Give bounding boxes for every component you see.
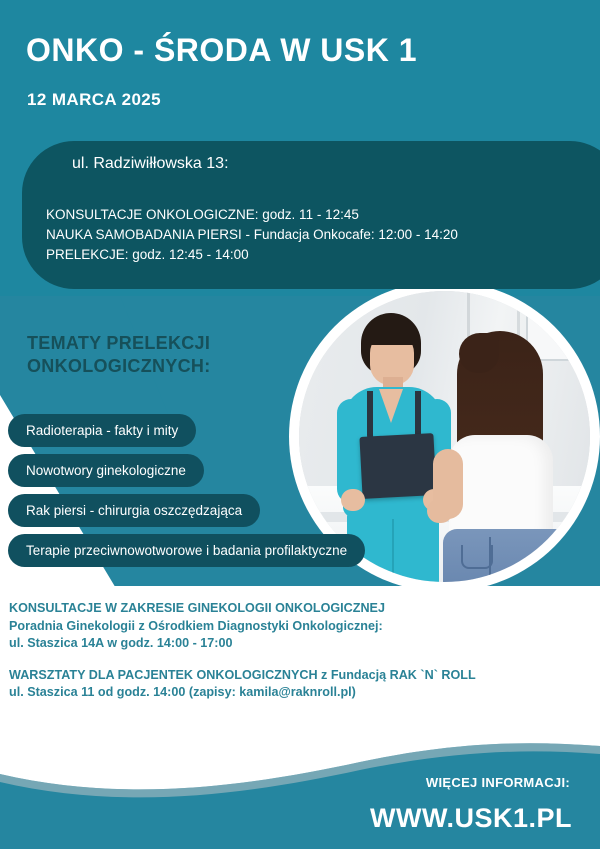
topic-pill: Radioterapia - fakty i mity	[8, 414, 196, 447]
info-line: Poradnia Ginekologii z Ośrodkiem Diagnos…	[9, 618, 594, 636]
info-line: ul. Staszica 14A w godz. 14:00 - 17:00	[9, 635, 594, 653]
schedule-item: KONSULTACJE ONKOLOGICZNE: godz. 11 - 12:…	[46, 205, 458, 225]
patient-jeans-pocket	[461, 545, 493, 569]
more-info-label: WIĘCEJ INFORMACJI:	[426, 775, 570, 790]
event-date: 12 MARCA 2025	[27, 90, 161, 110]
patient-hand	[427, 499, 453, 523]
info-line: KONSULTACJE W ZAKRESIE GINEKOLOGII ONKOL…	[9, 600, 594, 618]
doctor-pants-seam	[392, 519, 394, 582]
page-title: ONKO - ŚRODA W USK 1	[26, 32, 417, 69]
topic-pill: Nowotwory ginekologiczne	[8, 454, 204, 487]
topics-heading-line1: TEMATY PRELEKCJI	[27, 332, 211, 355]
poster: ONKO - ŚRODA W USK 1 12 MARCA 2025 ul. R…	[0, 0, 600, 849]
schedule-item: NAUKA SAMOBADANIA PIERSI - Fundacja Onko…	[46, 225, 458, 245]
workshops-block: WARSZTATY DLA PACJENTEK ONKOLOGICZNYCH z…	[9, 667, 594, 702]
topic-pill: Terapie przeciwnowotworowe i badania pro…	[8, 534, 365, 567]
info-line: ul. Staszica 11 od godz. 14:00 (zapisy: …	[9, 684, 594, 702]
doctor-hair-front	[363, 319, 419, 345]
patient-hair-front	[459, 333, 499, 373]
doctor-left-hand	[341, 489, 365, 511]
topics-heading: TEMATY PRELEKCJI ONKOLOGICZNYCH:	[27, 332, 211, 378]
patient-white-tshirt	[449, 435, 553, 543]
schedule-list: KONSULTACJE ONKOLOGICZNE: godz. 11 - 12:…	[46, 205, 458, 265]
patient-figure	[449, 331, 579, 582]
gynecology-consultations-block: KONSULTACJE W ZAKRESIE GINEKOLOGII ONKOL…	[9, 600, 594, 653]
website-url[interactable]: WWW.USK1.PL	[370, 803, 572, 834]
topic-pill: Rak piersi - chirurgia oszczędzająca	[8, 494, 260, 527]
schedule-item: PRELEKCJE: godz. 12:45 - 14:00	[46, 245, 458, 265]
additional-info: KONSULTACJE W ZAKRESIE GINEKOLOGII ONKOL…	[9, 600, 594, 716]
info-line: WARSZTATY DLA PACJENTEK ONKOLOGICZNYCH z…	[9, 667, 594, 685]
topics-heading-line2: ONKOLOGICZNYCH:	[27, 355, 211, 378]
venue-address: ul. Radziwiłłowska 13:	[72, 155, 229, 173]
clipboard-icon	[359, 433, 436, 499]
